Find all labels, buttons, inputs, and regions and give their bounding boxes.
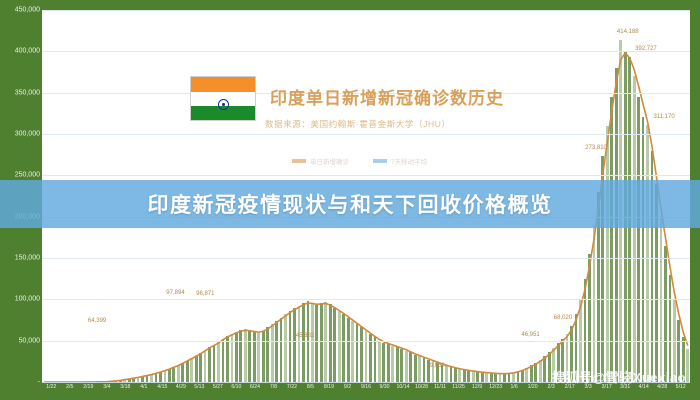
india-flag-icon	[190, 76, 256, 121]
y-axis-tick: 400,000	[0, 48, 40, 55]
x-axis-tick: 9/2	[344, 384, 351, 390]
data-label: 68,020	[554, 315, 572, 321]
chart-legend: 单日新增确诊 7天移动平均	[292, 156, 427, 166]
data-label: 273,810	[585, 145, 607, 151]
x-axis-tick: 11/25	[452, 384, 465, 390]
gridline	[42, 10, 690, 11]
y-axis-tick: 300,000	[0, 131, 40, 138]
legend-swatch-average	[373, 159, 387, 163]
gridline	[42, 51, 690, 52]
legend-item-daily: 单日新增确诊	[292, 156, 349, 166]
x-axis-tick: 10/28	[415, 384, 428, 390]
x-axis-tick: 1/22	[46, 384, 56, 390]
x-axis-tick: 12/23	[489, 384, 502, 390]
x-axis-tick: 1/20	[528, 384, 538, 390]
gridline	[42, 175, 690, 176]
legend-swatch-daily	[292, 159, 306, 163]
data-label: 96,871	[196, 291, 214, 297]
x-axis: 1/222/52/193/43/184/14/154/295/135/276/1…	[42, 384, 690, 398]
x-axis-tick: 4/1	[140, 384, 147, 390]
chart-title: 印度单日新增新冠确诊数历史	[270, 84, 504, 109]
x-axis-tick: 7/22	[287, 384, 297, 390]
x-axis-tick: 8/5	[307, 384, 314, 390]
y-axis-tick: 100,000	[0, 296, 40, 303]
legend-label-daily: 单日新增确诊	[310, 156, 349, 166]
data-label: 46,951	[521, 332, 539, 338]
data-label: 45,882	[296, 333, 314, 339]
y-axis-tick: 250,000	[0, 172, 40, 179]
x-axis-tick: 2/5	[66, 384, 73, 390]
ashoka-chakra-icon	[218, 99, 229, 110]
data-label: 9,850	[430, 363, 445, 369]
gridline	[42, 258, 690, 259]
x-axis-tick: 12/9	[472, 384, 482, 390]
x-axis-tick: 5/27	[213, 384, 223, 390]
chart-header: 印度单日新增新冠确诊数历史 数据来源：美国约翰斯·霍普金斯大学（JHU）	[160, 62, 560, 148]
x-axis-tick: 3/18	[120, 384, 130, 390]
x-axis-tick: 9/30	[379, 384, 389, 390]
data-label: 392,727	[635, 46, 657, 52]
legend-item-average: 7天移动平均	[373, 156, 427, 166]
watermark: 搜狐号@雪骁Xuexiao	[552, 367, 686, 386]
data-label: 97,894	[166, 290, 184, 296]
legend-label-average: 7天移动平均	[391, 156, 427, 166]
y-axis-tick: 150,000	[0, 255, 40, 262]
x-axis-tick: 3/4	[103, 384, 110, 390]
data-label: 311,170	[653, 114, 674, 120]
data-label: 64,399	[88, 318, 106, 324]
x-axis-tick: 4/15	[157, 384, 167, 390]
chart-subtitle: 数据来源：美国约翰斯·霍普金斯大学（JHU）	[265, 118, 451, 130]
y-axis-tick: 450,000	[0, 7, 40, 14]
x-axis-tick: 9/16	[361, 384, 371, 390]
x-axis-tick: 8/19	[324, 384, 334, 390]
x-axis-tick: 6/10	[231, 384, 241, 390]
x-axis-tick: 7/8	[270, 384, 277, 390]
x-axis-tick: 1/6	[511, 384, 518, 390]
gridline	[42, 341, 690, 342]
overlay-banner: 印度新冠疫情现状与和天下回收价格概览	[0, 180, 700, 228]
x-axis-tick: 10/14	[397, 384, 410, 390]
chart-screenshot: 64,39997,89496,87145,8829,85046,95168,02…	[0, 0, 700, 400]
banner-title: 印度新冠疫情现状与和天下回收价格概览	[148, 189, 553, 219]
x-axis-tick: 4/29	[176, 384, 186, 390]
x-axis-tick: 5/13	[194, 384, 204, 390]
y-axis-tick: -	[0, 379, 40, 386]
gridline	[42, 299, 690, 300]
x-axis-tick: 11/11	[434, 384, 446, 390]
x-axis-tick: 2/19	[83, 384, 93, 390]
y-axis-tick: 350,000	[0, 89, 40, 96]
y-axis-tick: 50,000	[0, 337, 40, 344]
x-axis-tick: 6/24	[250, 384, 260, 390]
data-label: 414,188	[617, 29, 639, 35]
